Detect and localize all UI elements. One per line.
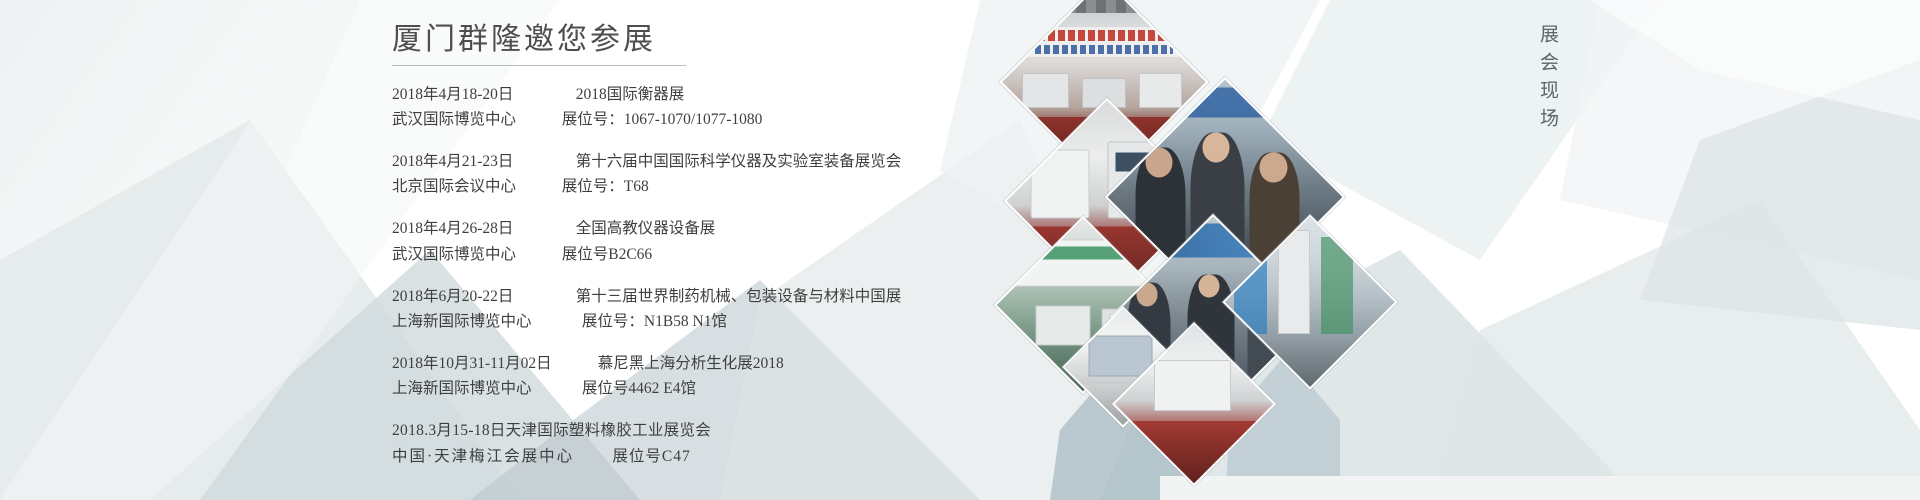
event-booth: 展位号：T68: [562, 174, 649, 199]
event-booth: 展位号：1067-1070/1077-1080: [562, 107, 763, 132]
event-item: 2018年10月31-11月02日 慕尼黑上海分析生化展2018 上海新国际博览…: [392, 351, 1012, 401]
page-title: 厦门群隆邀您参展: [392, 22, 686, 66]
event-date: 2018年6月20-22日: [392, 284, 542, 309]
event-date: 2018.3月15-18日天津国际塑料橡胶工业展览会: [392, 418, 711, 444]
event-name: 全国高教仪器设备展: [576, 216, 716, 241]
event-name: 第十六届中国国际科学仪器及实验室装备展览会: [576, 149, 902, 174]
event-venue: 北京国际会议中心: [392, 174, 542, 199]
event-date: 2018年10月31-11月02日: [392, 351, 578, 376]
events-copy: 厦门群隆邀您参展 2018年4月18-20日 2018国际衡器展 武汉国际博览中…: [392, 22, 1012, 488]
event-name: 慕尼黑上海分析生化展2018: [598, 351, 784, 376]
event-item: 2018年4月26-28日 全国高教仪器设备展 武汉国际博览中心 展位号B2C6…: [392, 216, 1012, 266]
event-item: 2018.3月15-18日天津国际塑料橡胶工业展览会 中国·天津梅江会展中心 展…: [392, 418, 1012, 471]
event-venue: 武汉国际博览中心: [392, 107, 542, 132]
vertical-caption: 展会现场: [1538, 24, 1557, 136]
event-venue: 上海新国际博览中心: [392, 309, 578, 334]
event-date: 2018年4月26-28日: [392, 216, 542, 241]
event-venue: 上海新国际博览中心: [392, 376, 578, 401]
exhibition-banner: 厦门群隆邀您参展 2018年4月18-20日 2018国际衡器展 武汉国际博览中…: [0, 0, 1920, 500]
photo-collage: [1020, 0, 1440, 500]
event-booth: 展位号4462 E4馆: [582, 376, 696, 401]
event-item: 2018年4月18-20日 2018国际衡器展 武汉国际博览中心 展位号：106…: [392, 82, 1012, 132]
event-name: 第十三届世界制药机械、包装设备与材料中国展: [576, 284, 902, 309]
event-name: 2018国际衡器展: [576, 82, 685, 107]
event-item: 2018年4月21-23日 第十六届中国国际科学仪器及实验室装备展览会 北京国际…: [392, 149, 1012, 199]
event-venue: 中国·天津梅江会展中心: [392, 448, 574, 465]
event-date: 2018年4月21-23日: [392, 149, 542, 174]
event-booth: 展位号B2C66: [562, 242, 652, 267]
event-item: 2018年6月20-22日 第十三届世界制药机械、包装设备与材料中国展 上海新国…: [392, 284, 1012, 334]
event-booth: 展位号：N1B58 N1馆: [582, 309, 727, 334]
event-date: 2018年4月18-20日: [392, 82, 542, 107]
event-booth: 展位号C47: [612, 448, 690, 465]
event-venue: 武汉国际博览中心: [392, 242, 542, 267]
